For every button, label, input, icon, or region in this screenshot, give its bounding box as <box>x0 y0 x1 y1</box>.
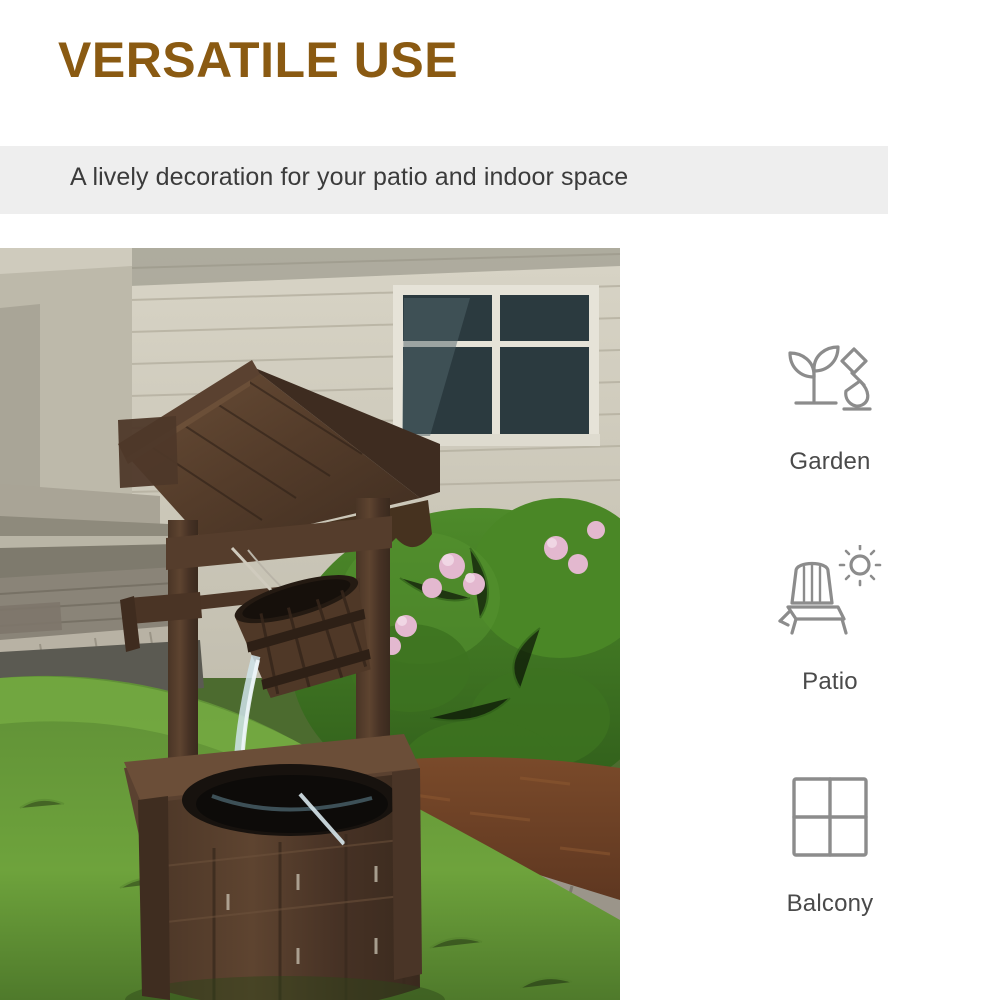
balcony-window-icon <box>700 762 960 872</box>
garden-plant-shovel-icon <box>700 320 960 430</box>
feature-list: Garden <box>700 300 960 960</box>
feature-item-patio: Patio <box>700 540 960 696</box>
wishing-well-photo <box>0 248 620 1000</box>
feature-item-balcony: Balcony <box>700 762 960 918</box>
feature-label-balcony: Balcony <box>700 890 960 918</box>
page-title: VERSATILE USE <box>58 34 458 87</box>
feature-label-patio: Patio <box>700 668 960 696</box>
patio-chair-sun-icon <box>700 540 960 650</box>
feature-label-garden: Garden <box>700 448 960 476</box>
page-subtitle: A lively decoration for your patio and i… <box>70 163 628 192</box>
product-infographic-page: VERSATILE USE A lively decoration for yo… <box>0 0 1000 1000</box>
feature-item-garden: Garden <box>700 320 960 476</box>
